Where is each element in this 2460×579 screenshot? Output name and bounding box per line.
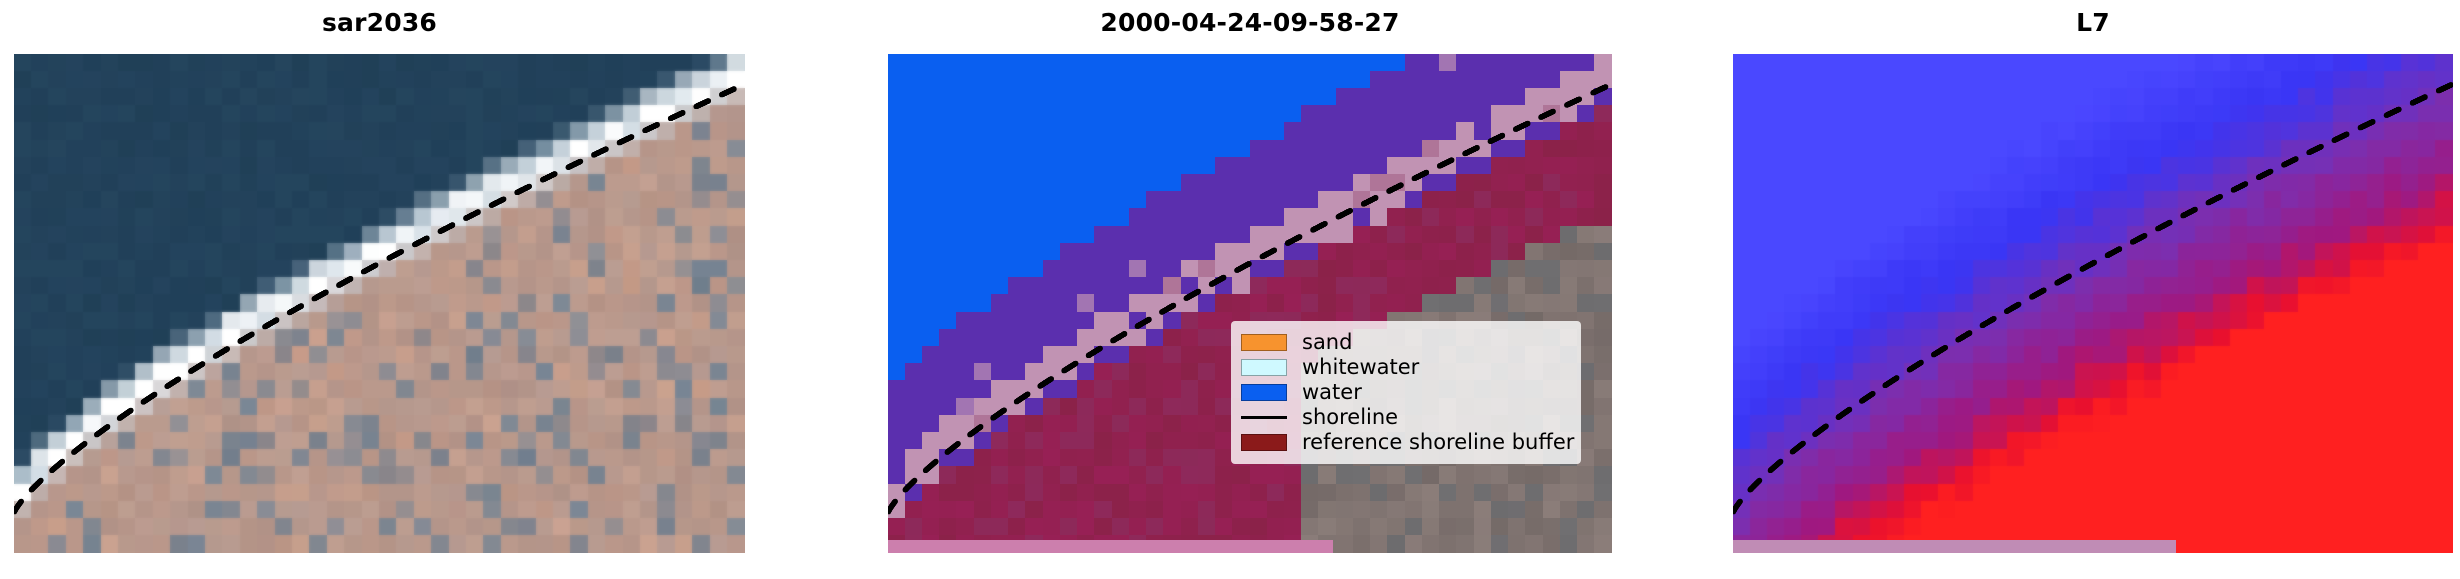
legend-row-reference-shoreline-buffer: reference shoreline buffer	[1241, 430, 1570, 455]
legend-row-whitewater: whitewater	[1241, 355, 1570, 380]
legend-label: shoreline	[1302, 406, 1398, 429]
axes-classification	[888, 54, 1612, 553]
panel-classification: 2000-04-24-09-58-27	[888, 0, 1612, 579]
panel-title-1: 2000-04-24-09-58-27	[888, 8, 1612, 38]
figure-canvas: sar2036 2000-04-24-09-58-27 L7 sandwhite…	[0, 0, 2460, 579]
panel-l7: L7	[1733, 0, 2453, 579]
legend-label: sand	[1302, 331, 1352, 354]
legend-row-water: water	[1241, 380, 1570, 405]
legend-swatch-reference-shoreline-buffer-icon	[1241, 434, 1287, 451]
satellite-rgb-image	[14, 54, 745, 553]
classification-overlay-image	[888, 54, 1612, 553]
legend-label: whitewater	[1302, 356, 1419, 379]
water-index-image	[1733, 54, 2453, 553]
legend-label: water	[1302, 381, 1362, 404]
legend-swatch-whitewater-icon	[1241, 359, 1287, 376]
axes-sar2036	[14, 54, 745, 553]
legend-swatch-water-icon	[1241, 384, 1287, 401]
panel-title-2: L7	[1733, 8, 2453, 38]
panel-sar2036: sar2036	[14, 0, 745, 579]
legend-row-shoreline: shoreline	[1241, 405, 1570, 430]
panel-title-0: sar2036	[14, 8, 745, 38]
legend-label: reference shoreline buffer	[1302, 431, 1574, 454]
legend-swatch-sand-icon	[1241, 334, 1287, 351]
legend-box: sandwhitewaterwatershorelinereference sh…	[1231, 321, 1581, 464]
legend-swatch-shoreline-icon	[1241, 409, 1287, 426]
axes-l7	[1733, 54, 2453, 553]
legend-row-sand: sand	[1241, 330, 1570, 355]
